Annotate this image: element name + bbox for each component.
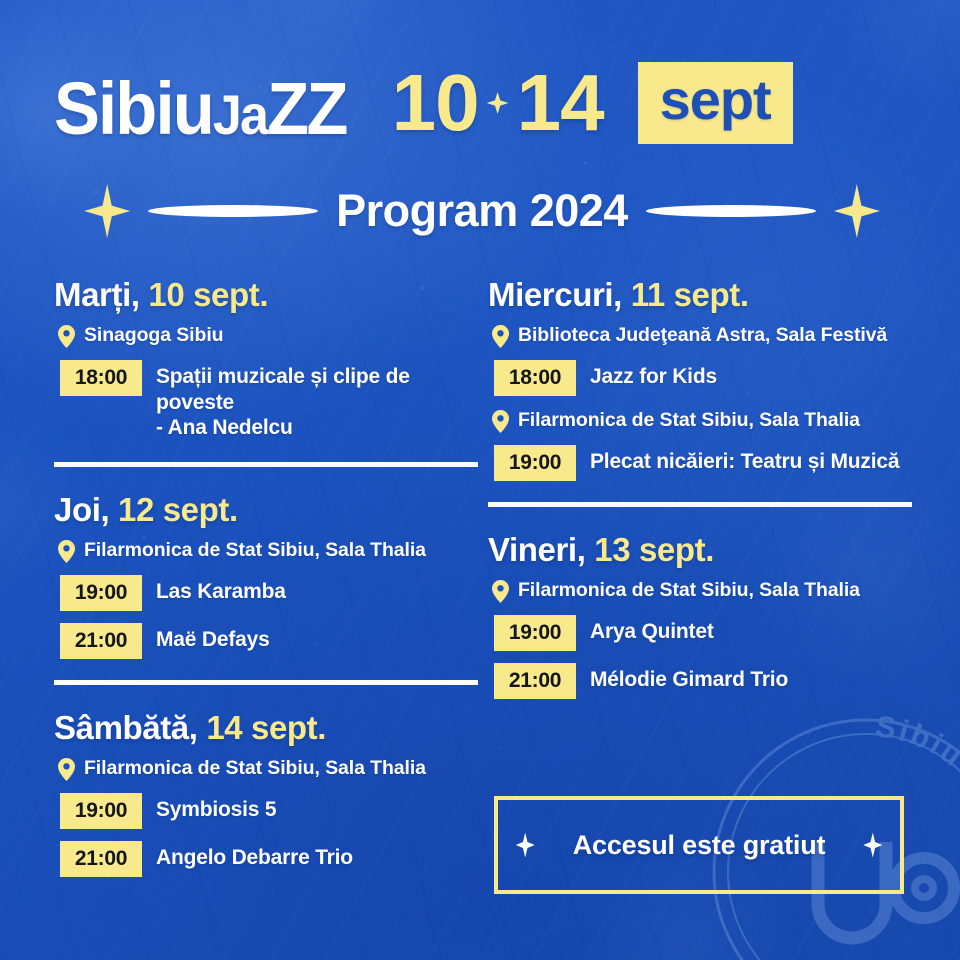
event-title: Maë Defays [156,623,270,653]
event-row: 19:00Symbiosis 5 [60,793,478,829]
event-title: Symbiosis 5 [156,793,276,823]
event-title: Plecat nicăieri: Teatru și Muzică [590,445,899,475]
event-time-badge: 19:00 [60,793,142,829]
event-time-badge: 19:00 [60,575,142,611]
location-pin-icon [492,325,509,348]
location-pin-icon [492,580,509,603]
event-time-badge: 18:00 [60,360,142,396]
venue-row: Filarmonica de Stat Sibiu, Sala Thalia [58,538,478,563]
event-row: 18:00Jazz for Kids [494,360,912,396]
day-date: 10 sept. [148,276,268,313]
venue-name: Filarmonica de Stat Sibiu, Sala Thalia [518,408,860,432]
four-point-star-icon-left [84,184,130,238]
masthead: SibiuJaZZ 10 14 sept [54,44,910,144]
day-title: Vineri, 13 sept. [488,531,912,569]
lens-divider-icon-right [646,205,816,217]
day-weekday: Joi, [54,491,109,528]
schedule-column-left: Marți, 10 sept.Sinagoga Sibiu18:00Spații… [54,276,478,889]
event-row: 21:00Angelo Debarre Trio [60,841,478,877]
event-row: 18:00Spații muzicale și clipe de poveste… [60,360,478,441]
event-row: 19:00Plecat nicăieri: Teatru și Muzică [494,445,912,481]
venue-row: Filarmonica de Stat Sibiu, Sala Thalia [492,578,912,603]
event-row: 21:00Maë Defays [60,623,478,659]
event-title: Angelo Debarre Trio [156,841,353,871]
day-date: 13 sept. [594,531,714,568]
location-pin-icon [58,325,75,348]
diamond-icon-right [863,833,882,858]
day-weekday: Sâmbătă, [54,709,198,746]
day-title: Sâmbătă, 14 sept. [54,709,478,747]
section-divider [54,462,478,467]
day-date: 11 sept. [631,276,749,313]
date-end: 14 [517,66,604,140]
event-time-badge: 21:00 [60,623,142,659]
free-access-banner: Accesul este gratiut [494,796,904,894]
event-title: Mélodie Gimard Trio [590,663,788,693]
day-title: Marți, 10 sept. [54,276,478,314]
month-badge: sept [638,62,793,144]
event-time-badge: 21:00 [494,663,576,699]
diamond-icon-left [516,833,535,858]
diamond-icon [487,92,509,114]
logo-sibiu: Sibiu [54,67,213,150]
venue-row: Filarmonica de Stat Sibiu, Sala Thalia [492,408,912,433]
day-block: Sâmbătă, 14 sept.Filarmonica de Stat Sib… [54,709,478,877]
event-title: Arya Quintet [590,615,714,645]
location-pin-icon [58,540,75,563]
venue-name: Sinagoga Sibiu [84,323,223,347]
day-weekday: Vineri, [488,531,585,568]
section-divider [54,680,478,685]
venue-row: Sinagoga Sibiu [58,323,478,348]
program-banner: Program 2024 [54,176,910,246]
event-title: Jazz for Kids [590,360,717,390]
lens-divider-icon-left [148,205,318,217]
venue-name: Filarmonica de Stat Sibiu, Sala Thalia [84,538,426,562]
day-date: 14 sept. [206,709,326,746]
page-title: Program 2024 [336,185,628,237]
event-time-badge: 19:00 [494,445,576,481]
event-time-badge: 19:00 [494,615,576,651]
venue-row: Filarmonica de Stat Sibiu, Sala Thalia [58,756,478,781]
festival-dates: 10 14 sept [392,62,793,144]
day-date: 12 sept. [118,491,238,528]
festival-program-poster: Sibiu Jazz Festival SibiuJaZZ 10 14 sept… [0,0,960,960]
logo-zz: ZZ [267,67,345,150]
day-title: Joi, 12 sept. [54,491,478,529]
event-row: 19:00Arya Quintet [494,615,912,651]
day-weekday: Marți, [54,276,140,313]
day-block: Vineri, 13 sept.Filarmonica de Stat Sibi… [488,531,912,699]
date-start: 10 [392,66,479,140]
venue-row: Biblioteca Judeţeană Astra, Sala Festivă [492,323,912,348]
venue-name: Biblioteca Judeţeană Astra, Sala Festivă [518,323,887,347]
four-point-star-icon-right [834,184,880,238]
day-title: Miercuri, 11 sept. [488,276,912,314]
day-block: Miercuri, 11 sept.Biblioteca Judeţeană A… [488,276,912,481]
day-weekday: Miercuri, [488,276,622,313]
venue-name: Filarmonica de Stat Sibiu, Sala Thalia [518,578,860,602]
event-time-badge: 21:00 [60,841,142,877]
schedule-column-right: Miercuri, 11 sept.Biblioteca Judeţeană A… [488,276,912,711]
venue-name: Filarmonica de Stat Sibiu, Sala Thalia [84,756,426,780]
event-time-badge: 18:00 [494,360,576,396]
festival-logo: SibiuJaZZ [54,73,346,144]
location-pin-icon [58,758,75,781]
logo-ja: Ja [213,83,267,146]
free-access-label: Accesul este gratiut [573,830,826,861]
location-pin-icon [492,410,509,433]
day-block: Joi, 12 sept.Filarmonica de Stat Sibiu, … [54,491,478,659]
day-block: Marți, 10 sept.Sinagoga Sibiu18:00Spații… [54,276,478,441]
event-row: 21:00Mélodie Gimard Trio [494,663,912,699]
event-row: 19:00Las Karamba [60,575,478,611]
event-title: Spații muzicale și clipe de poveste- Ana… [156,360,478,441]
section-divider [488,502,912,507]
event-title: Las Karamba [156,575,286,605]
